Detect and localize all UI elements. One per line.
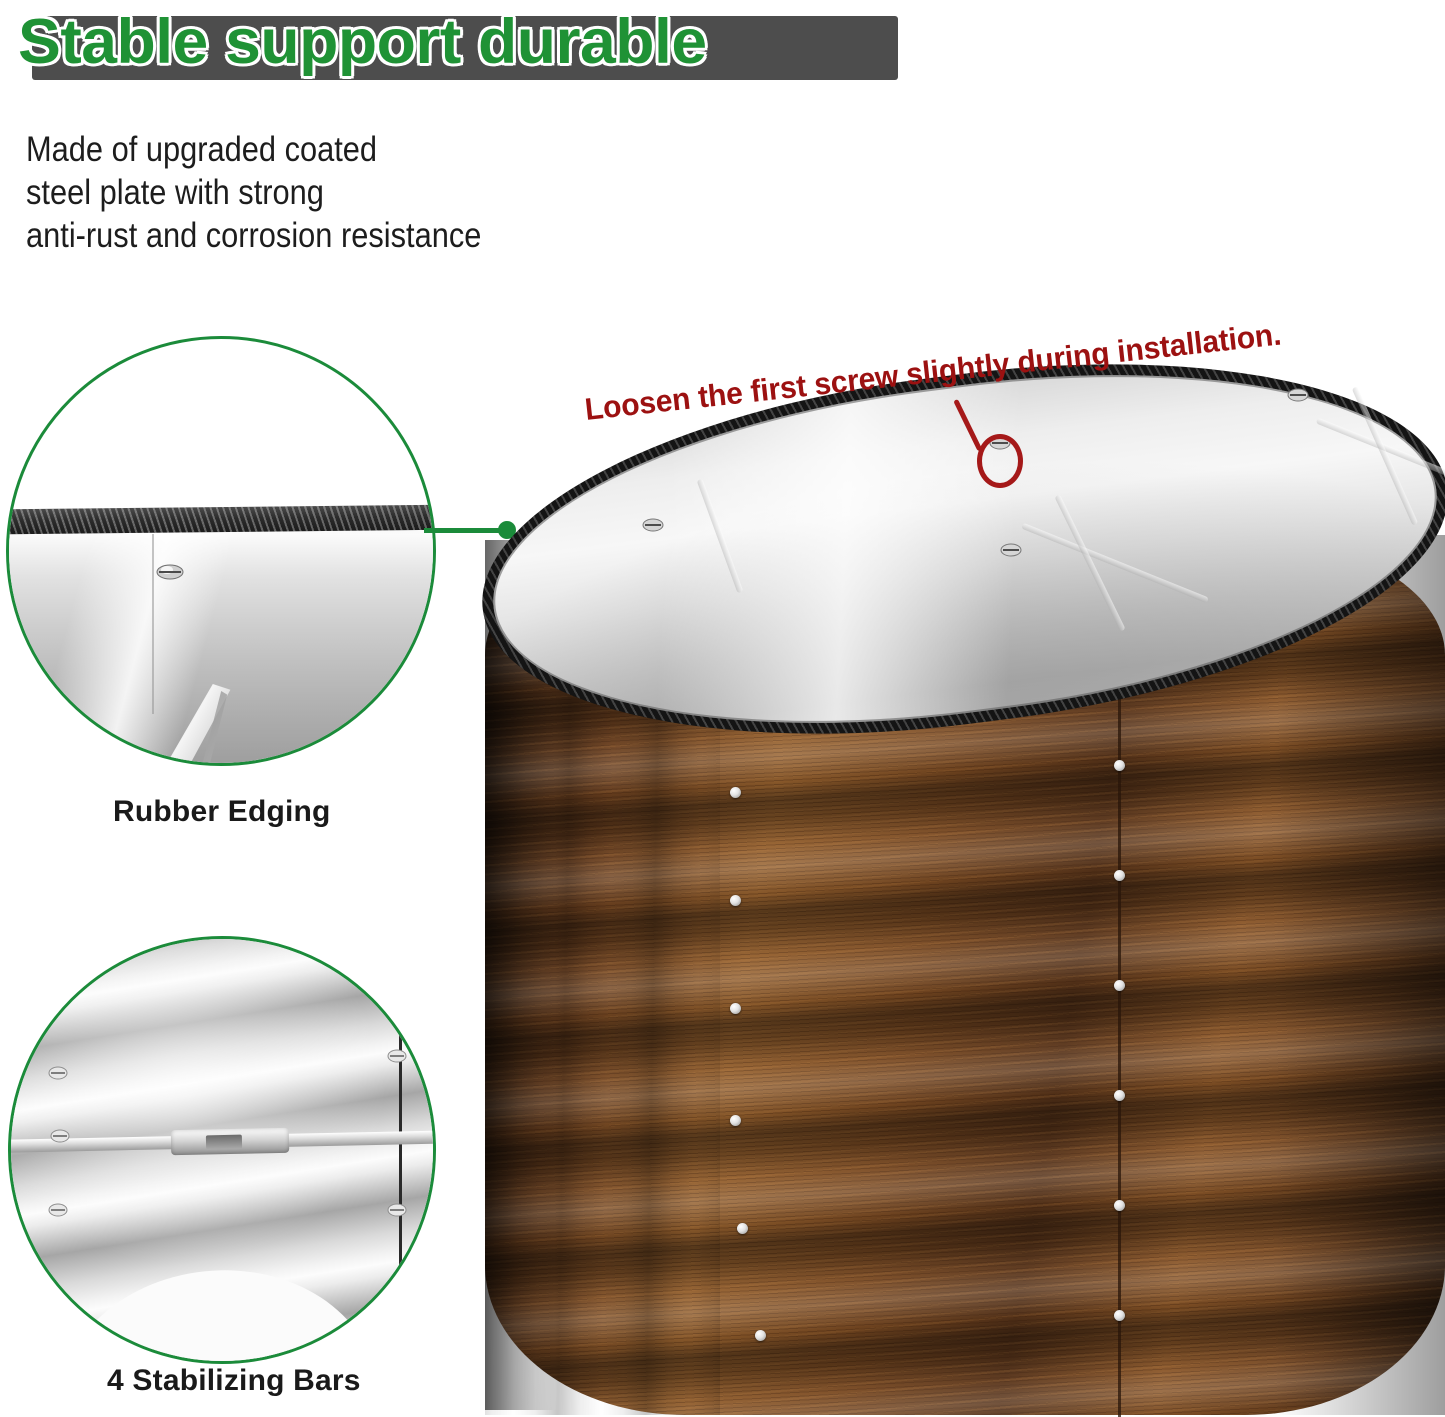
screw-icon	[49, 1127, 71, 1145]
screw-icon	[737, 1223, 748, 1234]
headline-block: Stable support durable	[18, 2, 918, 88]
screw-icon	[386, 1047, 408, 1065]
screw-icon	[755, 1330, 766, 1341]
subtitle-text: Made of upgraded coated steel plate with…	[26, 128, 748, 257]
screw-icon	[730, 787, 741, 798]
callout-label-rubber-edging: Rubber Edging	[113, 795, 331, 829]
screw-icon	[1114, 1310, 1125, 1321]
screw-icon	[730, 1115, 741, 1126]
stabilizing-bars-photo	[11, 939, 433, 1361]
rubber-edging-photo	[9, 339, 433, 763]
screw-icon	[730, 1003, 741, 1014]
planter-panel-seam	[1118, 587, 1121, 1417]
screw-icon	[47, 1201, 69, 1219]
screw-icon	[1114, 760, 1125, 771]
panel-sheen	[6, 519, 436, 766]
screw-icon	[1114, 870, 1125, 881]
callout-label-stabilizing-bars: 4 Stabilizing Bars	[107, 1364, 361, 1398]
screw-icon	[640, 515, 666, 535]
screw-icon	[730, 895, 741, 906]
screw-icon	[1114, 1090, 1125, 1101]
screw-icon	[47, 1064, 69, 1082]
callout-circle-rubber-edging	[6, 336, 436, 766]
callout-circle-stabilizing-bars	[8, 936, 436, 1364]
screw-icon	[155, 561, 185, 583]
product-image-raised-garden-bed	[455, 355, 1445, 1406]
red-highlight-ring	[977, 434, 1023, 488]
rubber-edging-strip	[6, 505, 436, 535]
screw-icon	[1114, 1200, 1125, 1211]
screw-icon	[1114, 980, 1125, 991]
screw-icon	[998, 540, 1024, 560]
page-title: Stable support durable	[18, 2, 936, 82]
screw-icon	[1285, 385, 1311, 405]
screw-icon	[386, 1201, 408, 1219]
coupler-notch	[206, 1135, 242, 1150]
panel-seam	[152, 534, 154, 714]
